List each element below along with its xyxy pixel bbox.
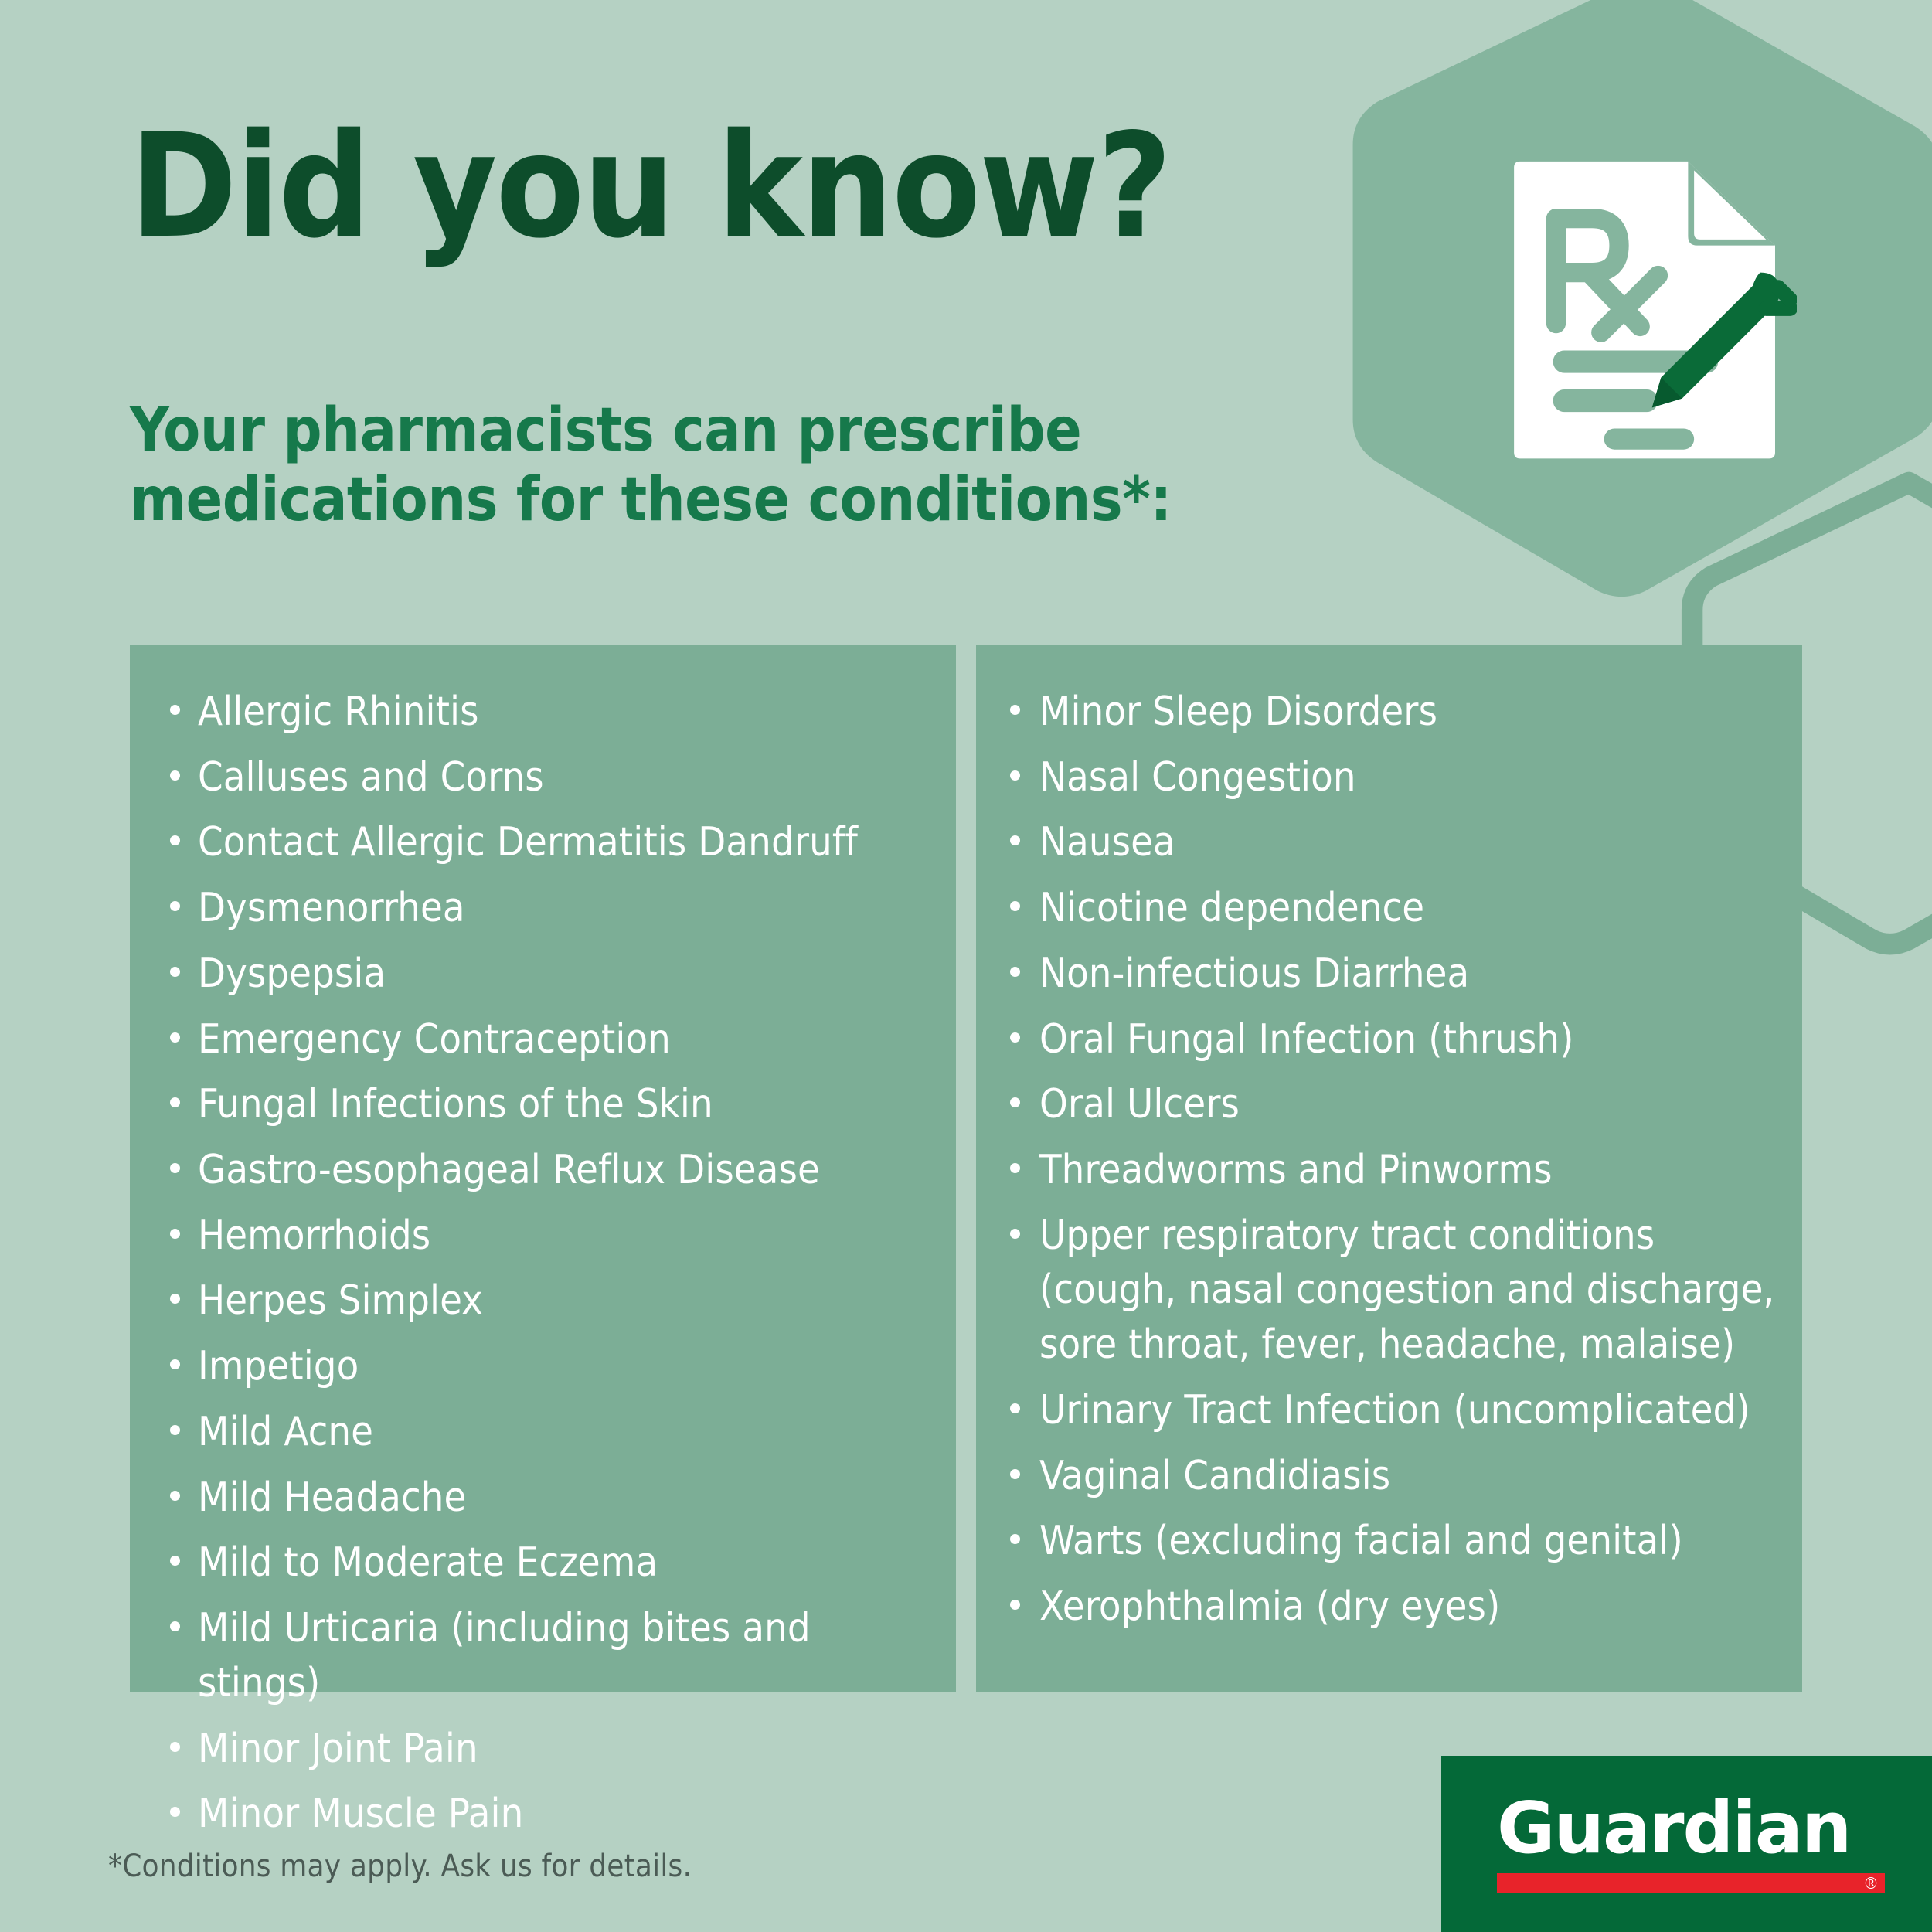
condition-item: Mild Urticaria (including bites and stin… — [153, 1601, 933, 1710]
bullet-icon — [170, 1163, 180, 1173]
bullet-icon — [170, 1097, 180, 1107]
condition-label: Hemorrhoids — [198, 1213, 430, 1259]
condition-label: Non-infectious Diarrhea — [1039, 951, 1469, 997]
condition-item: Calluses and Corns — [153, 750, 933, 805]
conditions-list-left: Allergic RhinitisCalluses and CornsConta… — [153, 685, 933, 1842]
condition-label: Minor Joint Pain — [198, 1726, 478, 1772]
bullet-icon — [170, 1621, 180, 1631]
condition-label: Allergic Rhinitis — [198, 689, 479, 735]
bullet-icon — [170, 1807, 180, 1817]
condition-item: Dysmenorrhea — [153, 881, 933, 936]
condition-item: Herpes Simplex — [153, 1274, 933, 1328]
condition-item: Upper respiratory tract conditions (coug… — [999, 1209, 1779, 1372]
condition-item: Allergic Rhinitis — [153, 685, 933, 740]
bullet-icon — [170, 1556, 180, 1566]
conditions-panel-right: Minor Sleep DisordersNasal CongestionNau… — [976, 645, 1802, 1692]
condition-label: Impetigo — [198, 1343, 359, 1389]
page-subtitle: Your pharmacists can prescribe medicatio… — [130, 396, 1289, 536]
bullet-icon — [170, 770, 180, 781]
page-title: Did you know? — [130, 114, 1171, 258]
condition-label: Nicotine dependence — [1039, 885, 1424, 931]
condition-item: Warts (excluding facial and genital) — [999, 1514, 1779, 1569]
condition-label: Threadworms and Pinworms — [1039, 1147, 1553, 1193]
bullet-icon — [1010, 1403, 1020, 1413]
condition-item: Minor Joint Pain — [153, 1722, 933, 1777]
bullet-icon — [170, 835, 180, 845]
bullet-icon — [170, 1294, 180, 1304]
condition-label: Nausea — [1039, 819, 1175, 866]
bullet-icon — [170, 1229, 180, 1239]
conditions-panels: Allergic RhinitisCalluses and CornsConta… — [130, 645, 1802, 1692]
condition-label: Minor Sleep Disorders — [1039, 689, 1437, 735]
bullet-icon — [1010, 1229, 1020, 1239]
bullet-icon — [1010, 1032, 1020, 1043]
bullet-icon — [1010, 705, 1020, 715]
condition-label: Mild Acne — [198, 1409, 373, 1455]
condition-label: Vaginal Candidiasis — [1039, 1453, 1390, 1499]
bullet-icon — [1010, 1097, 1020, 1107]
condition-item: Urinary Tract Infection (uncomplicated) — [999, 1383, 1779, 1438]
condition-item: Minor Muscle Pain — [153, 1787, 933, 1842]
bullet-icon — [170, 901, 180, 911]
condition-label: Oral Fungal Infection (thrush) — [1039, 1016, 1573, 1063]
condition-item: Dyspepsia — [153, 947, 933, 1002]
bullet-icon — [170, 1032, 180, 1043]
bullet-icon — [170, 1425, 180, 1435]
footnote-text: *Conditions may apply. Ask us for detail… — [108, 1849, 692, 1884]
conditions-list-right: Minor Sleep DisordersNasal CongestionNau… — [999, 685, 1779, 1634]
condition-label: Mild Urticaria (including bites and stin… — [198, 1605, 811, 1706]
guardian-logo-inner: Guardian ® — [1497, 1793, 1885, 1893]
bullet-icon — [1010, 1600, 1020, 1610]
bullet-icon — [170, 705, 180, 715]
subtitle-line-1: Your pharmacists can prescribe — [130, 396, 1289, 465]
condition-label: Xerophthalmia (dry eyes) — [1039, 1583, 1500, 1630]
condition-label: Urinary Tract Infection (uncomplicated) — [1039, 1387, 1750, 1434]
bullet-icon — [1010, 1534, 1020, 1544]
bullet-icon — [170, 1742, 180, 1752]
condition-item: Fungal Infections of the Skin — [153, 1077, 933, 1132]
bullet-icon — [1010, 770, 1020, 781]
condition-item: Contact Allergic Dermatitis Dandruff — [153, 815, 933, 870]
bullet-icon — [1010, 901, 1020, 911]
bullet-icon — [170, 967, 180, 977]
condition-item: Vaginal Candidiasis — [999, 1449, 1779, 1504]
condition-label: Dysmenorrhea — [198, 885, 465, 931]
condition-label: Upper respiratory tract conditions (coug… — [1039, 1213, 1774, 1368]
condition-item: Gastro-esophageal Reflux Disease — [153, 1143, 933, 1198]
condition-label: Warts (excluding facial and genital) — [1039, 1518, 1683, 1564]
bullet-icon — [170, 1359, 180, 1369]
condition-label: Emergency Contraception — [198, 1016, 671, 1063]
condition-item: Nicotine dependence — [999, 881, 1779, 936]
condition-item: Oral Ulcers — [999, 1077, 1779, 1132]
guardian-logo-rule: ® — [1497, 1873, 1885, 1893]
bullet-icon — [170, 1491, 180, 1501]
bullet-icon — [1010, 1163, 1020, 1173]
condition-label: Oral Ulcers — [1039, 1081, 1240, 1128]
condition-label: Fungal Infections of the Skin — [198, 1081, 713, 1128]
condition-label: Gastro-esophageal Reflux Disease — [198, 1147, 820, 1193]
condition-item: Nasal Congestion — [999, 750, 1779, 805]
condition-item: Minor Sleep Disorders — [999, 685, 1779, 740]
condition-label: Mild Headache — [198, 1475, 466, 1521]
condition-item: Oral Fungal Infection (thrush) — [999, 1012, 1779, 1067]
condition-item: Mild to Moderate Eczema — [153, 1536, 933, 1590]
guardian-logo: Guardian ® — [1441, 1756, 1932, 1932]
bullet-icon — [1010, 1469, 1020, 1479]
prescription-rx-document-icon — [1495, 158, 1797, 468]
condition-item: Nausea — [999, 815, 1779, 870]
bullet-icon — [1010, 835, 1020, 845]
subtitle-line-2: medications for these conditions*: — [130, 465, 1289, 535]
condition-item: Mild Acne — [153, 1405, 933, 1460]
condition-label: Mild to Moderate Eczema — [198, 1539, 658, 1586]
condition-label: Nasal Congestion — [1039, 754, 1356, 801]
condition-item: Hemorrhoids — [153, 1209, 933, 1264]
bullet-icon — [1010, 967, 1020, 977]
condition-label: Contact Allergic Dermatitis Dandruff — [198, 819, 858, 866]
condition-label: Calluses and Corns — [198, 754, 544, 801]
conditions-panel-left: Allergic RhinitisCalluses and CornsConta… — [130, 645, 956, 1692]
guardian-wordmark: Guardian — [1497, 1793, 1885, 1864]
condition-label: Minor Muscle Pain — [198, 1791, 523, 1837]
condition-item: Impetigo — [153, 1339, 933, 1394]
condition-label: Dyspepsia — [198, 951, 386, 997]
condition-item: Threadworms and Pinworms — [999, 1143, 1779, 1198]
condition-item: Mild Headache — [153, 1471, 933, 1526]
condition-label: Herpes Simplex — [198, 1277, 483, 1324]
condition-item: Non-infectious Diarrhea — [999, 947, 1779, 1002]
infographic-poster: Did you know? Your pharmacists can presc… — [0, 0, 1932, 1932]
registered-trademark-icon: ® — [1863, 1875, 1879, 1892]
condition-item: Xerophthalmia (dry eyes) — [999, 1580, 1779, 1634]
condition-item: Emergency Contraception — [153, 1012, 933, 1067]
